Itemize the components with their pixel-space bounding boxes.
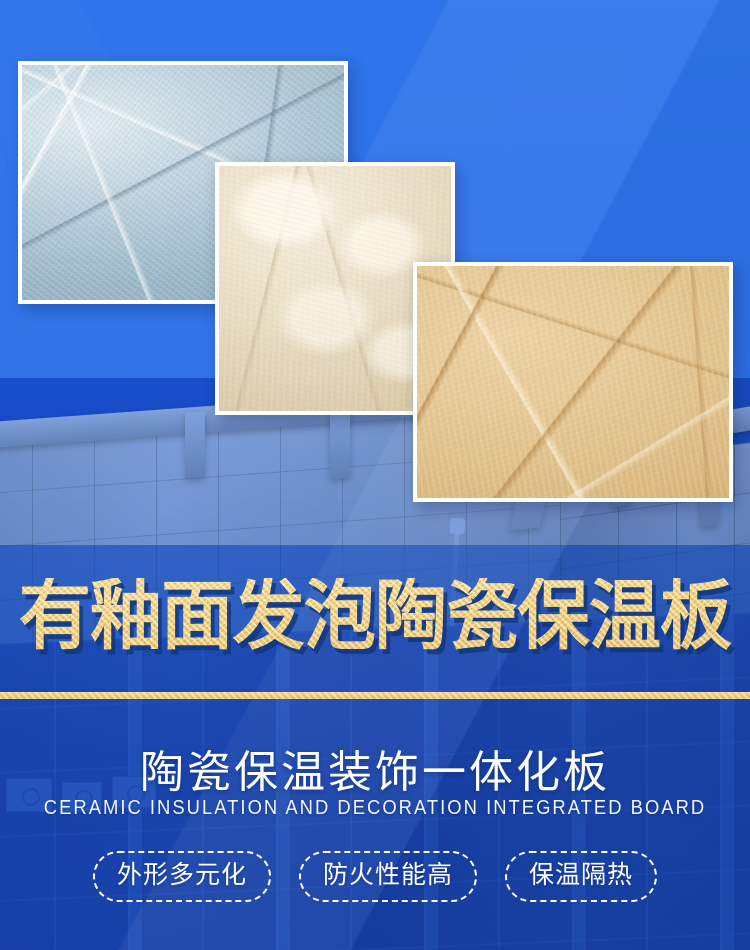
feature-pill-shape-variety[interactable]: 外形多元化 bbox=[93, 851, 271, 902]
tile-grain bbox=[417, 266, 729, 498]
gold-divider-rule bbox=[0, 692, 750, 699]
feature-pill-list: 外形多元化 防火性能高 保温隔热 bbox=[0, 851, 750, 902]
headline-title: 有釉面发泡陶瓷保温板 bbox=[19, 578, 732, 654]
feature-pill-thermal-insulation[interactable]: 保温隔热 bbox=[505, 851, 657, 902]
headline-container: 有釉面发泡陶瓷保温板 bbox=[0, 578, 750, 654]
feature-pill-fire-resistance[interactable]: 防火性能高 bbox=[299, 851, 477, 902]
tile-sample-golden-tan-marble[interactable] bbox=[413, 262, 733, 502]
product-banner: 有釉面发泡陶瓷保温板 陶瓷保温装饰一体化板 CERAMIC INSULATION… bbox=[0, 0, 750, 950]
subtitle-english: CERAMIC INSULATION AND DECORATION INTEGR… bbox=[30, 797, 720, 820]
subtitle-chinese: 陶瓷保温装饰一体化板 bbox=[0, 736, 750, 800]
